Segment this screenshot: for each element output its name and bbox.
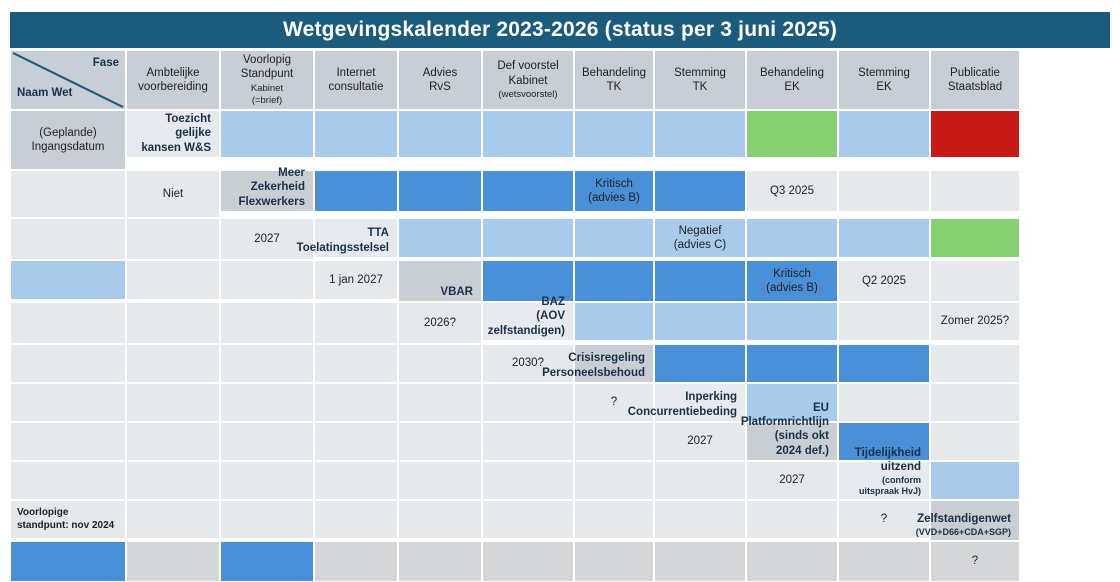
cell-r1-c7[interactable] — [746, 110, 838, 158]
cell-r8-c5[interactable] — [220, 461, 314, 500]
cell-r8-c7[interactable] — [398, 461, 482, 500]
cell-r10-c11[interactable]: ? — [930, 541, 1020, 582]
cell-r4-c3[interactable] — [654, 260, 746, 302]
cell-r1-c10[interactable] — [10, 170, 126, 218]
page-title: Wetgevingskalender 2023-2026 (status per… — [10, 12, 1110, 48]
cell-r3-c1[interactable] — [398, 218, 482, 258]
cell-r8-c3[interactable] — [10, 461, 126, 500]
column-header-5: Def voorstelKabinet(wetsvoorstel) — [482, 50, 574, 110]
cell-r6-c10[interactable] — [482, 383, 574, 422]
cell-r2-c8[interactable] — [930, 170, 1020, 212]
cell-r10-c9[interactable] — [746, 541, 838, 582]
row-header-7: InperkingConcurrentiebeding — [654, 383, 746, 422]
cell-r6-c9[interactable] — [398, 383, 482, 422]
cell-r2-c4[interactable]: Kritisch(advies B) — [574, 170, 654, 212]
cell-r2-c2[interactable] — [398, 170, 482, 212]
column-header-6: BehandelingTK — [574, 50, 654, 110]
cell-r1-c2[interactable] — [314, 110, 398, 158]
cell-r9-c10[interactable] — [746, 500, 838, 539]
cell-r6-c6[interactable] — [126, 383, 220, 422]
cell-r1-c9[interactable] — [930, 110, 1020, 158]
cell-r10-c4[interactable] — [314, 541, 398, 582]
row-header-2: Meer ZekerheidFlexwerkers — [220, 170, 314, 212]
corner-naam-label: Naam Wet — [17, 86, 72, 100]
cell-r7-c2[interactable] — [838, 383, 930, 422]
cell-r2-c9[interactable] — [10, 218, 126, 260]
cell-r9-c7[interactable] — [482, 500, 574, 539]
cell-r7-c4[interactable] — [10, 422, 126, 461]
cell-r6-c1[interactable] — [654, 344, 746, 383]
cell-r9-c2[interactable]: Voorlopige standpunt: nov 2024 — [10, 500, 126, 539]
cell-r4-c7[interactable] — [10, 302, 126, 344]
row-header-6: CrisisregelingPersoneelsbehoud — [574, 344, 654, 383]
cell-r9-c1[interactable] — [930, 461, 1020, 500]
cell-r6-c8[interactable] — [314, 383, 398, 422]
column-header-10: PublicatieStaatsblad — [930, 50, 1020, 110]
cell-r6-c4[interactable] — [930, 344, 1020, 383]
cell-r10-c7[interactable] — [574, 541, 654, 582]
table-corner-header: FaseNaam Wet — [10, 50, 126, 110]
cell-r5-c2[interactable] — [654, 302, 746, 341]
column-header-2: VoorlopigStandpuntKabinet(=brief) — [220, 50, 314, 110]
cell-r5-c5[interactable]: Zomer 2025? — [930, 302, 1020, 341]
cell-r10-c8[interactable] — [654, 541, 746, 582]
cell-r4-c5[interactable]: Q2 2025 — [838, 260, 930, 302]
cell-r8-c6[interactable] — [314, 461, 398, 500]
cell-r8-c10[interactable] — [654, 461, 746, 500]
cell-r6-c2[interactable] — [746, 344, 838, 383]
row-header-1: Toezicht gelijkekansen W&S — [126, 110, 220, 158]
cell-r4-c2[interactable] — [574, 260, 654, 302]
wetgevingskalender-table: FaseNaam WetAmbtelijkevoorbereidingVoorl… — [10, 50, 1110, 515]
cell-r7-c11[interactable]: 2027 — [654, 422, 746, 461]
cell-r7-c5[interactable] — [126, 422, 220, 461]
cell-r2-c1[interactable] — [314, 170, 398, 212]
row-header-4: VBAR — [398, 260, 482, 302]
cell-r9-c6[interactable] — [398, 500, 482, 539]
cell-r9-c9[interactable] — [654, 500, 746, 539]
cell-r6-c7[interactable] — [220, 383, 314, 422]
cell-r1-c8[interactable] — [838, 110, 930, 158]
cell-r2-c5[interactable] — [654, 170, 746, 212]
column-header-9: StemmingEK — [838, 50, 930, 110]
cell-r2-c3[interactable] — [482, 170, 574, 212]
cell-r1-c5[interactable] — [574, 110, 654, 158]
cell-r4-c9[interactable] — [220, 302, 314, 344]
cell-r2-c7[interactable] — [838, 170, 930, 212]
cell-r8-c2[interactable] — [930, 422, 1020, 461]
corner-fase-label: Fase — [93, 56, 119, 70]
row-header-9: Tijdelijkheid uitzend(conform uitspraak … — [838, 461, 930, 500]
column-header-1: Ambtelijkevoorbereiding — [126, 50, 220, 110]
wetgevingskalender-page: Wetgevingskalender 2023-2026 (status per… — [0, 0, 1120, 521]
cell-r5-c9[interactable] — [314, 344, 398, 383]
column-header-4: AdviesRvS — [398, 50, 482, 110]
cell-r10-c3[interactable] — [220, 541, 314, 582]
cell-r3-c7[interactable] — [930, 218, 1020, 258]
cell-r3-c4[interactable]: Negatief(advies C) — [654, 218, 746, 258]
cell-r4-c10[interactable] — [314, 302, 398, 344]
column-header-11: (Geplande)Ingangsdatum — [10, 110, 126, 170]
cell-r10-c5[interactable] — [398, 541, 482, 582]
cell-r6-c3[interactable] — [838, 344, 930, 383]
cell-r1-c11[interactable]: Niet — [126, 170, 220, 218]
cell-r8-c9[interactable] — [574, 461, 654, 500]
cell-r4-c11[interactable]: 2026? — [398, 302, 482, 344]
cell-r4-c4[interactable]: Kritisch(advies B) — [746, 260, 838, 302]
cell-r3-c9[interactable] — [126, 260, 220, 300]
cell-r5-c10[interactable] — [398, 344, 482, 383]
cell-r10-c10[interactable] — [838, 541, 930, 582]
column-header-3: Internetconsultatie — [314, 50, 398, 110]
cell-r3-c6[interactable] — [838, 218, 930, 258]
cell-r1-c3[interactable] — [398, 110, 482, 158]
cell-r3-c10[interactable] — [220, 260, 314, 300]
cell-r4-c8[interactable] — [126, 302, 220, 344]
cell-r3-c3[interactable] — [574, 218, 654, 258]
cell-r1-c4[interactable] — [482, 110, 574, 158]
cell-r7-c9[interactable] — [482, 422, 574, 461]
cell-r7-c8[interactable] — [398, 422, 482, 461]
cell-r8-c11[interactable]: 2027 — [746, 461, 838, 500]
cell-r10-c2[interactable] — [126, 541, 220, 582]
cell-r5-c6[interactable] — [10, 344, 126, 383]
cell-r10-c1[interactable] — [10, 541, 126, 582]
cell-r8-c8[interactable] — [482, 461, 574, 500]
cell-r9-c5[interactable] — [314, 500, 398, 539]
cell-r10-c6[interactable] — [482, 541, 574, 582]
cell-r8-c4[interactable] — [126, 461, 220, 500]
cell-r3-c5[interactable] — [746, 218, 838, 258]
cell-r3-c11[interactable]: 1 jan 2027 — [314, 260, 398, 300]
cell-r2-c10[interactable] — [126, 218, 220, 260]
cell-r3-c8[interactable] — [10, 260, 126, 300]
column-header-8: BehandelingEK — [746, 50, 838, 110]
cell-r7-c6[interactable] — [220, 422, 314, 461]
cell-r5-c1[interactable] — [574, 302, 654, 341]
row-header-5: BAZ(AOV zelfstandigen) — [482, 302, 574, 341]
cell-r7-c10[interactable] — [574, 422, 654, 461]
cell-r2-c6[interactable]: Q3 2025 — [746, 170, 838, 212]
cell-r1-c6[interactable] — [654, 110, 746, 158]
cell-r5-c4[interactable] — [838, 302, 930, 341]
cell-r9-c3[interactable] — [126, 500, 220, 539]
row-header-3: TTAToelatingsstelsel — [314, 218, 398, 258]
cell-r5-c8[interactable] — [220, 344, 314, 383]
row-header-8: EU Platformrichtlijn(sinds okt 2024 def.… — [746, 422, 838, 461]
cell-r6-c5[interactable] — [10, 383, 126, 422]
cell-r5-c3[interactable] — [746, 302, 838, 341]
cell-r4-c6[interactable] — [930, 260, 1020, 302]
cell-r7-c7[interactable] — [314, 422, 398, 461]
cell-r7-c3[interactable] — [930, 383, 1020, 422]
cell-r5-c7[interactable] — [126, 344, 220, 383]
cell-r9-c4[interactable] — [220, 500, 314, 539]
cell-r3-c2[interactable] — [482, 218, 574, 258]
cell-r9-c8[interactable] — [574, 500, 654, 539]
cell-r1-c1[interactable] — [220, 110, 314, 158]
column-header-7: StemmingTK — [654, 50, 746, 110]
